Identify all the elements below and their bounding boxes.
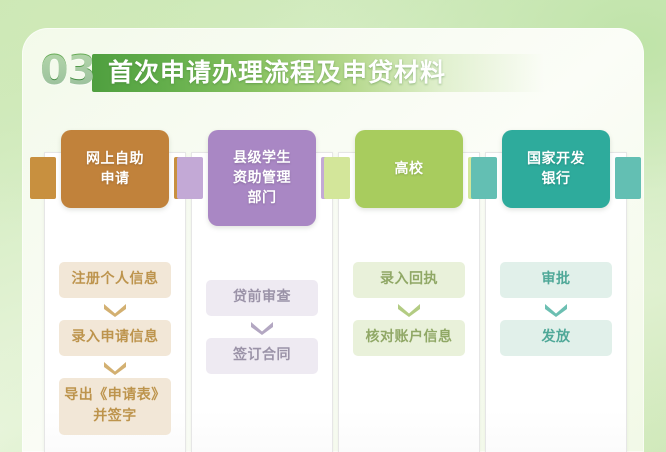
process-column-county-student-aid-department: 县级学生 资助管理 部门贷前审查签订合同 xyxy=(191,130,333,452)
step-list: 注册个人信息录入申请信息导出《申请表》 并签字 xyxy=(44,262,186,435)
step-list: 录入回执核对账户信息 xyxy=(338,262,480,356)
header-wing-right xyxy=(615,157,641,199)
chevron-down-icon xyxy=(249,319,275,335)
column-header-online-self-application[interactable]: 网上自助 申请 xyxy=(61,130,169,208)
process-column-china-development-bank: 国家开发 银行审批发放 xyxy=(485,130,627,452)
header-wing-left xyxy=(30,157,56,199)
step-chip[interactable]: 核对账户信息 xyxy=(353,320,465,356)
step-chip[interactable]: 录入回执 xyxy=(353,262,465,298)
process-columns: 网上自助 申请注册个人信息录入申请信息导出《申请表》 并签字县级学生 资助管理 … xyxy=(44,130,632,452)
chevron-down-icon xyxy=(543,301,569,317)
step-chip[interactable]: 导出《申请表》 并签字 xyxy=(59,378,171,435)
content-panel: 03 首次申请办理流程及申贷材料 网上自助 申请注册个人信息录入申请信息导出《申… xyxy=(22,28,644,452)
column-header-county-student-aid-department[interactable]: 县级学生 资助管理 部门 xyxy=(208,130,316,226)
step-chip[interactable]: 审批 xyxy=(500,262,612,298)
step-chip[interactable]: 注册个人信息 xyxy=(59,262,171,298)
step-list: 贷前审查签订合同 xyxy=(191,280,333,374)
header-wing-left xyxy=(324,157,350,199)
step-chip[interactable]: 贷前审查 xyxy=(206,280,318,316)
infographic-page: 03 首次申请办理流程及申贷材料 网上自助 申请注册个人信息录入申请信息导出《申… xyxy=(0,0,666,452)
chevron-down-icon xyxy=(102,301,128,317)
process-column-university: 高校录入回执核对账户信息 xyxy=(338,130,480,452)
step-chip[interactable]: 发放 xyxy=(500,320,612,356)
header-wing-left xyxy=(471,157,497,199)
column-header-university[interactable]: 高校 xyxy=(355,130,463,208)
page-title: 首次申请办理流程及申贷材料 xyxy=(108,54,446,92)
step-list: 审批发放 xyxy=(485,262,627,356)
header-wing-left xyxy=(177,157,203,199)
section-number: 03 xyxy=(40,47,95,93)
step-chip[interactable]: 签订合同 xyxy=(206,338,318,374)
chevron-down-icon xyxy=(102,359,128,375)
column-header-china-development-bank[interactable]: 国家开发 银行 xyxy=(502,130,610,208)
section-title-row: 03 首次申请办理流程及申贷材料 xyxy=(22,50,644,96)
chevron-down-icon xyxy=(396,301,422,317)
process-column-online-self-application: 网上自助 申请注册个人信息录入申请信息导出《申请表》 并签字 xyxy=(44,130,186,452)
step-chip[interactable]: 录入申请信息 xyxy=(59,320,171,356)
